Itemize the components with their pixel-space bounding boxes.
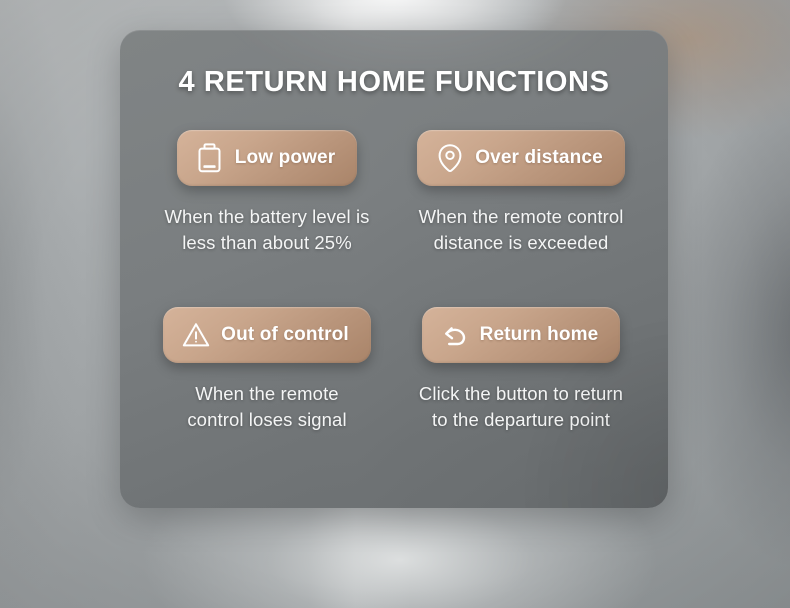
over-distance-caption-line2: distance is exceeded	[419, 230, 624, 256]
out-of-control-button[interactable]: Out of control	[163, 307, 371, 363]
over-distance-caption: When the remote control distance is exce…	[419, 204, 624, 257]
map-pin-icon	[435, 142, 465, 174]
function-card-low-power: Low power When the battery level is less…	[142, 130, 392, 257]
over-distance-caption-line1: When the remote control	[419, 204, 624, 230]
out-of-control-caption: When the remote control loses signal	[187, 381, 346, 434]
return-home-caption: Click the button to return to the depart…	[419, 381, 623, 434]
return-arrow-icon	[440, 319, 470, 351]
screenshot-root: 4 RETURN HOME FUNCTIONS Low power When	[0, 0, 790, 608]
return-home-caption-line2: to the departure point	[419, 407, 623, 433]
battery-low-icon	[195, 142, 225, 174]
warning-triangle-icon	[181, 319, 211, 351]
low-power-button[interactable]: Low power	[177, 130, 358, 186]
functions-grid: Low power When the battery level is less…	[142, 130, 646, 433]
page-title: 4 RETURN HOME FUNCTIONS	[120, 66, 668, 99]
function-card-out-of-control: Out of control When the remote control l…	[142, 307, 392, 434]
out-of-control-caption-line1: When the remote	[187, 381, 346, 407]
low-power-label: Low power	[235, 147, 336, 169]
return-home-caption-line1: Click the button to return	[419, 381, 623, 407]
function-card-return-home: Return home Click the button to return t…	[396, 307, 646, 434]
return-home-label: Return home	[480, 324, 599, 346]
info-panel: 4 RETURN HOME FUNCTIONS Low power When	[120, 30, 668, 508]
return-home-button[interactable]: Return home	[422, 307, 621, 363]
out-of-control-label: Out of control	[221, 324, 349, 346]
low-power-caption: When the battery level is less than abou…	[164, 204, 369, 257]
function-card-over-distance: Over distance When the remote control di…	[396, 130, 646, 257]
out-of-control-caption-line2: control loses signal	[187, 407, 346, 433]
low-power-caption-line2: less than about 25%	[164, 230, 369, 256]
over-distance-button[interactable]: Over distance	[417, 130, 625, 186]
over-distance-label: Over distance	[475, 147, 603, 169]
low-power-caption-line1: When the battery level is	[164, 204, 369, 230]
